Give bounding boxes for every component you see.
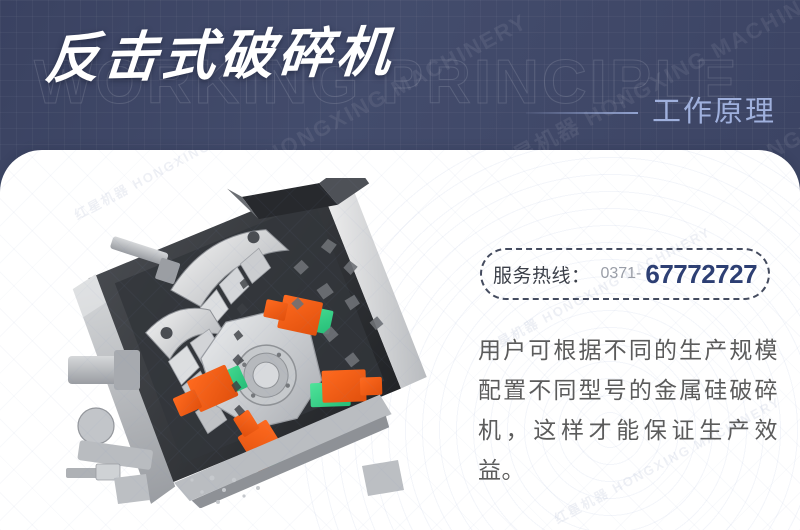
page-title: 反击式破碎机 <box>43 24 396 85</box>
header-subtitle-group: 工作原理 <box>526 98 776 127</box>
header-watermark: 红星机器 HONGXING MACHINERY <box>636 16 800 160</box>
content-card: 红星机器 HONGXING MACHINERY 红星机器 HONGXING MA… <box>0 150 800 530</box>
impact-crusher-icon <box>62 178 442 508</box>
hotline-box: 服务热线： 0371- 67772727 <box>480 248 770 300</box>
header-watermark: 红星机器 HONGXING MACHINERY <box>486 0 800 160</box>
header-banner: 红星机器 HONGXING MACHINERY 红星机器 HONGXING MA… <box>0 0 800 160</box>
subtitle-rule <box>526 112 638 114</box>
hotline-number: 67772727 <box>645 259 757 290</box>
hotline-label: 服务热线： <box>493 261 591 288</box>
promo-banner-page: 红星机器 HONGXING MACHINERY 红星机器 HONGXING MA… <box>0 0 800 530</box>
hotline-area-code: 0371- <box>600 265 641 283</box>
description-paragraph: 用户可根据不同的生产规模配置不同型号的金属硅破碎机，这样才能保证生产效益。 <box>478 330 778 490</box>
crusher-illustration <box>62 178 442 508</box>
header-subtitle: 工作原理 <box>652 98 776 127</box>
